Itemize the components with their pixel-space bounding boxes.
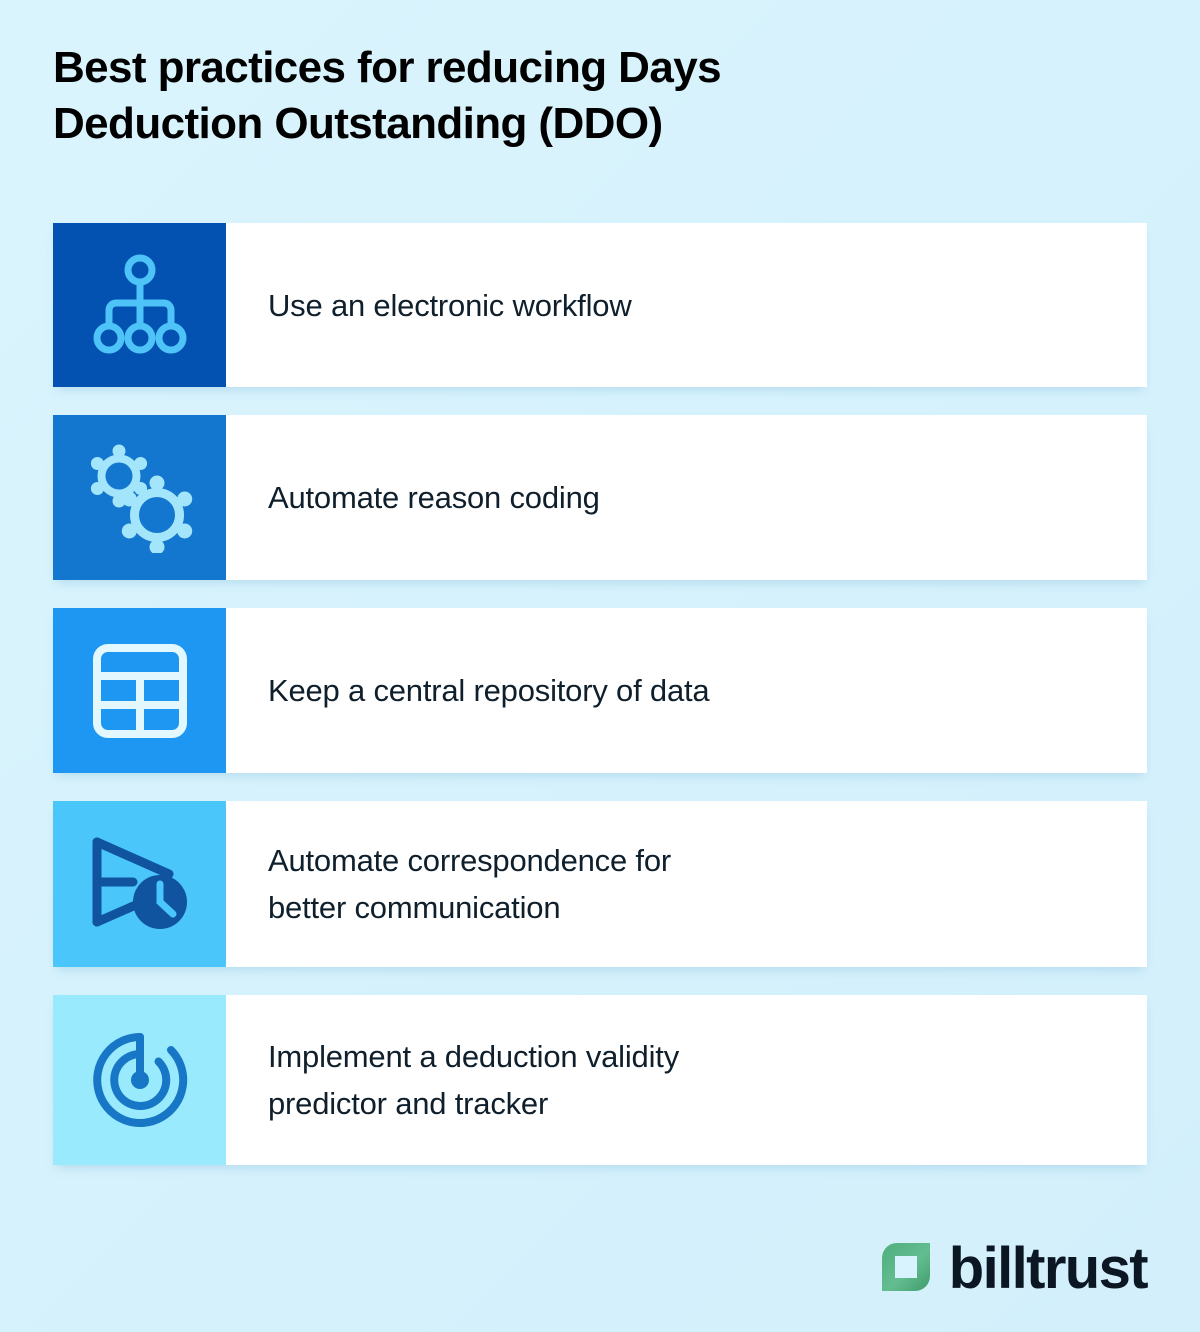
radar-tracker-icon bbox=[86, 1026, 194, 1134]
list-item-label: Automate correspondence for better commu… bbox=[226, 801, 1147, 967]
list-item: Automate correspondence for better commu… bbox=[53, 801, 1147, 967]
list-item-label: Implement a deduction validity predictor… bbox=[226, 995, 1147, 1165]
brand-footer: billtrust bbox=[880, 1240, 1147, 1298]
table-grid-icon bbox=[91, 642, 189, 740]
best-practices-list: Use an electronic workflow bbox=[53, 223, 1147, 1165]
list-item-label: Keep a central repository of data bbox=[226, 608, 1147, 773]
page-title: Best practices for reducing Days Deducti… bbox=[53, 40, 933, 152]
list-item-label: Automate reason coding bbox=[226, 415, 1147, 580]
infographic-page: Best practices for reducing Days Deducti… bbox=[0, 0, 1200, 1332]
list-item-icon-tile bbox=[53, 995, 226, 1165]
gears-icon bbox=[85, 443, 195, 553]
workflow-hierarchy-icon bbox=[88, 253, 192, 357]
list-item-icon-tile bbox=[53, 223, 226, 387]
send-clock-icon bbox=[85, 834, 195, 934]
list-item-icon-tile bbox=[53, 415, 226, 580]
list-item: Keep a central repository of data bbox=[53, 608, 1147, 773]
billtrust-logo-mark bbox=[880, 1241, 932, 1298]
list-item-icon-tile bbox=[53, 608, 226, 773]
list-item: Automate reason coding bbox=[53, 415, 1147, 580]
list-item: Use an electronic workflow bbox=[53, 223, 1147, 387]
list-item-label: Use an electronic workflow bbox=[226, 223, 1147, 387]
list-item-icon-tile bbox=[53, 801, 226, 967]
billtrust-wordmark: billtrust bbox=[949, 1240, 1147, 1298]
list-item: Implement a deduction validity predictor… bbox=[53, 995, 1147, 1165]
